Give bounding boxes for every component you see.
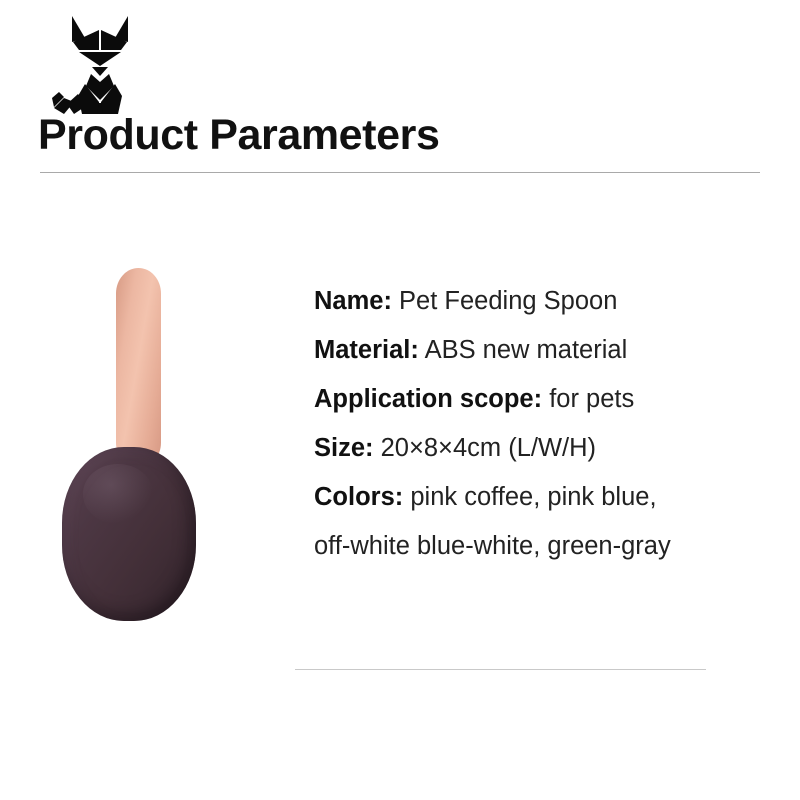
product-image bbox=[50, 250, 270, 640]
spec-value-material: ABS new material bbox=[425, 336, 628, 364]
spec-row-material: Material: ABS new material bbox=[314, 326, 784, 375]
spec-row-size: Size: 20×8×4cm (L/W/H) bbox=[314, 424, 784, 473]
spec-label-name: Name: bbox=[314, 287, 392, 315]
spec-label-size: Size: bbox=[314, 434, 374, 462]
spec-row-name: Name: Pet Feeding Spoon bbox=[314, 277, 784, 326]
page-title: Product Parameters bbox=[38, 112, 439, 158]
product-parameters-page: Product Parameters Name: Pet Feeding Spo… bbox=[0, 0, 800, 800]
pet-feeding-spoon-illustration bbox=[50, 250, 270, 640]
spec-value-colors: pink coffee, pink blue, bbox=[410, 483, 656, 511]
divider-bottom bbox=[295, 669, 706, 670]
divider-top bbox=[40, 172, 760, 173]
spec-value-size: 20×8×4cm (L/W/H) bbox=[381, 434, 596, 462]
spoon-handle bbox=[116, 268, 161, 468]
spec-row-application-scope: Application scope: for pets bbox=[314, 375, 784, 424]
spec-label-application-scope: Application scope: bbox=[314, 385, 542, 413]
spec-value-colors-line2: off-white blue-white, green-gray bbox=[314, 522, 784, 571]
spec-label-material: Material: bbox=[314, 336, 419, 364]
origami-fox-logo-icon bbox=[52, 8, 148, 114]
spec-value-name: Pet Feeding Spoon bbox=[399, 287, 617, 315]
specification-list: Name: Pet Feeding Spoon Material: ABS ne… bbox=[314, 277, 784, 571]
spec-row-colors: Colors: pink coffee, pink blue, bbox=[314, 473, 784, 522]
spec-value-application-scope: for pets bbox=[549, 385, 634, 413]
spec-label-colors: Colors: bbox=[314, 483, 403, 511]
spoon-scoop bbox=[62, 447, 196, 621]
